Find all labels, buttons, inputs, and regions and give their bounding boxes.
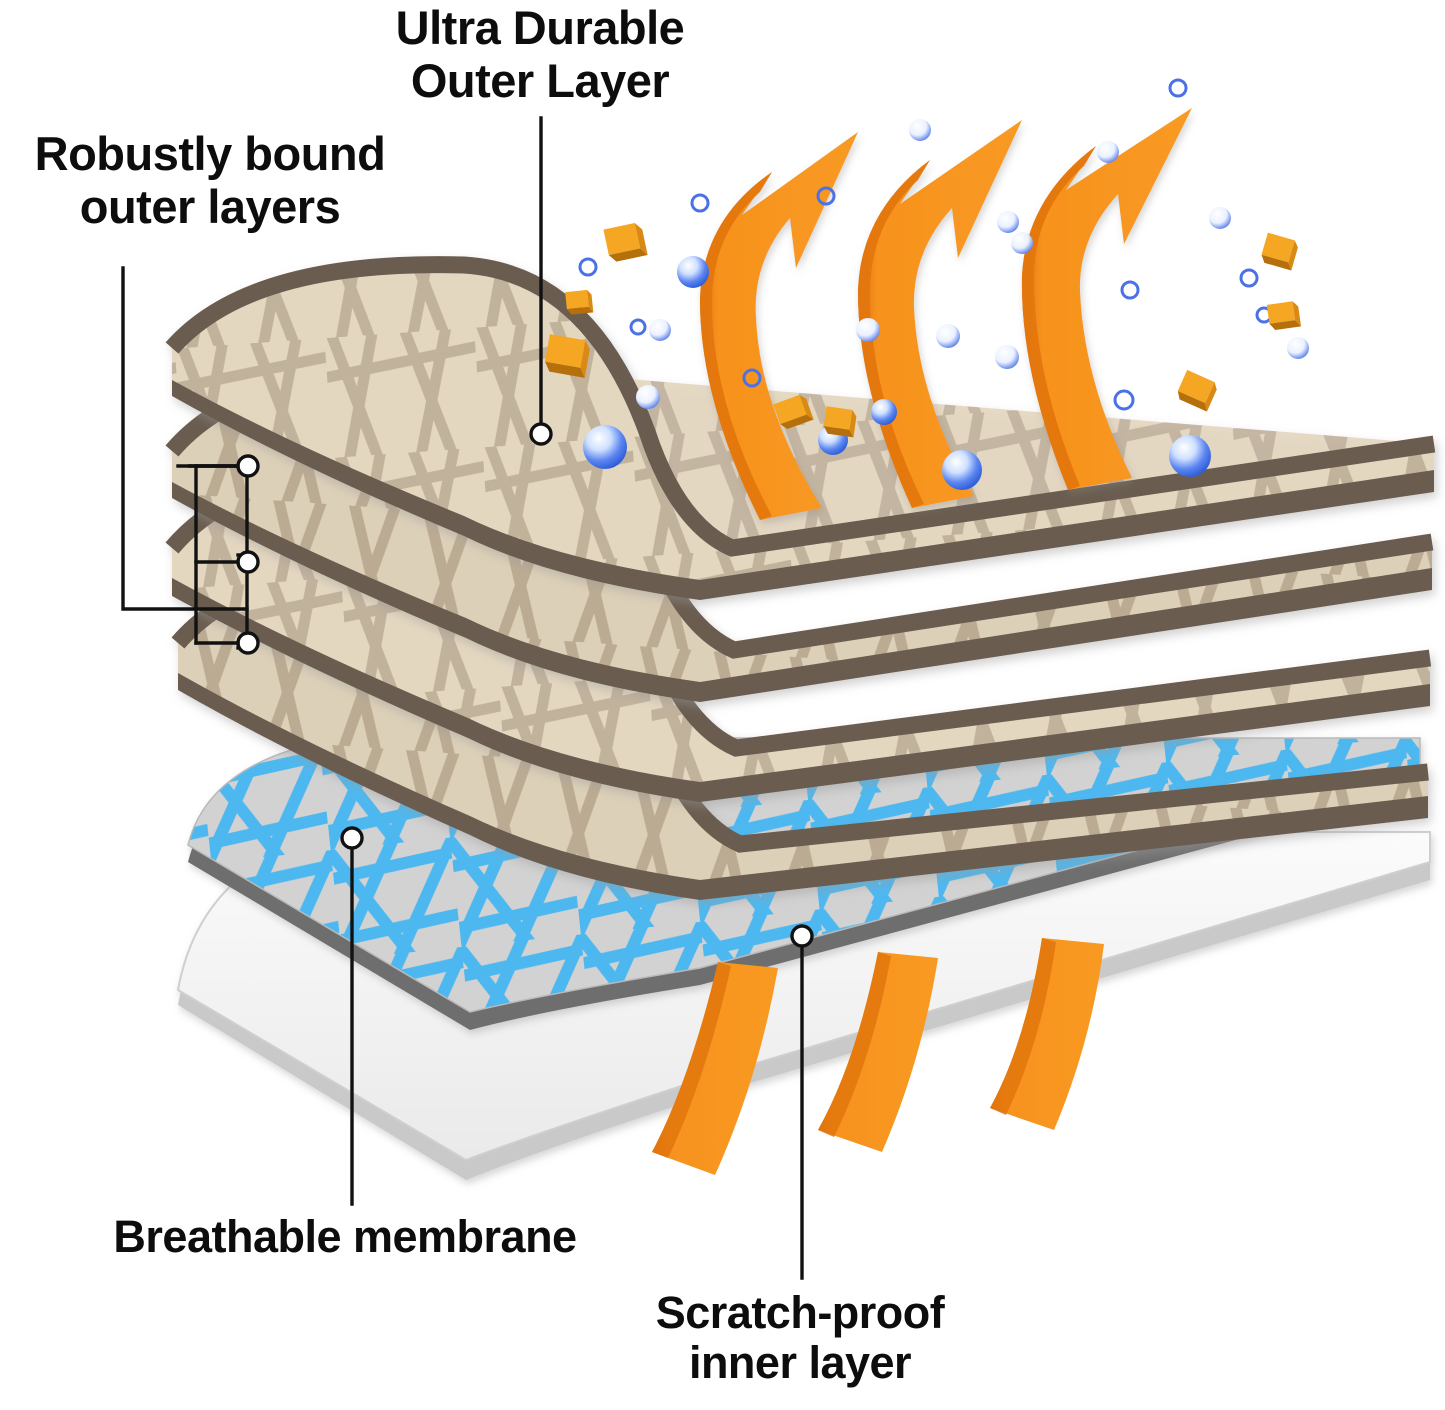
label-breathable-membrane: Breathable membrane xyxy=(35,1212,655,1262)
label-robustly-bound-outer-layers: Robustly bound outer layers xyxy=(0,128,420,233)
airflow-down-arrows xyxy=(652,938,1104,1175)
diagram-canvas: Ultra Durable Outer Layer Robustly bound… xyxy=(0,0,1445,1410)
label-scratch-proof-inner-layer: Scratch-proof inner layer xyxy=(570,1288,1030,1389)
label-ultra-durable-outer-layer: Ultra Durable Outer Layer xyxy=(330,2,750,107)
